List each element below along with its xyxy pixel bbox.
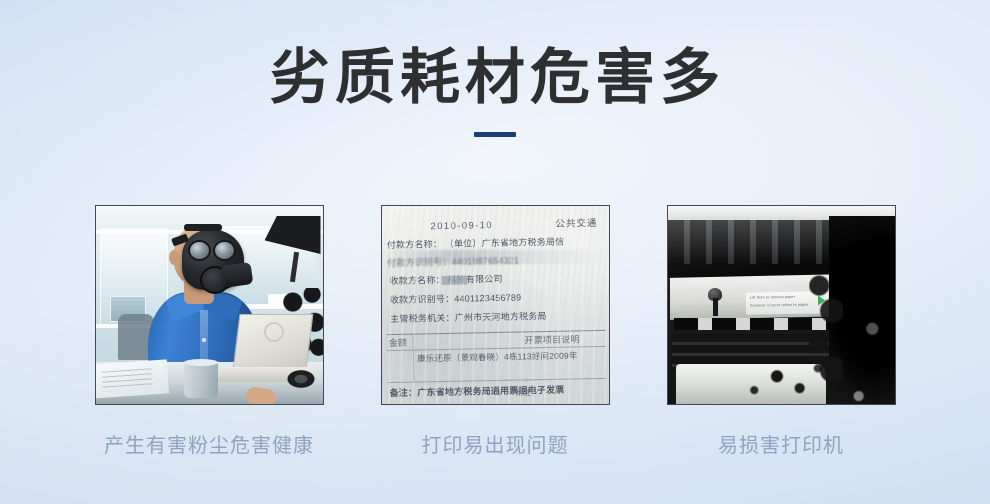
invoice-item-header: 开票项目说明 [524, 334, 579, 346]
card-caption-harmful-dust: 产生有害粉尘危害健康 [104, 433, 314, 459]
gas-mask-lens-right [213, 240, 236, 261]
invoice-payee-id: 收款方识别号：4401123456789 [389, 293, 521, 307]
invoice-footer-sub: 附注 [515, 387, 531, 398]
photo-glare [668, 206, 895, 404]
card-harmful-dust: 产生有害粉尘危害健康 [95, 205, 324, 459]
shirt-button-upper [202, 338, 206, 342]
cards-row: 产生有害粉尘危害健康 2010-09-10 公共交通 付款方名称： （单位）广东… [0, 205, 990, 475]
card-printing-problems: 2010-09-10 公共交通 付款方名称： （单位）广东省地方税务局信 付款方… [381, 205, 610, 459]
photo-office-worker-gas-mask [96, 206, 323, 404]
invoice-column-rule [412, 334, 414, 382]
photo-frame-harmful-dust [95, 205, 324, 405]
photo-frame-printer-damage: Lift here to remove paper Soulever ici p… [667, 205, 896, 405]
gas-mask-strap-top [184, 224, 222, 231]
invoice-ink-smudge [382, 250, 609, 264]
card-caption-printer-damage: 易损害打印机 [718, 433, 844, 459]
invoice-footer-note: 备注：广东省地方税务局通用票据电子发票 [389, 385, 564, 399]
gas-mask-canister [220, 262, 253, 288]
invoice-payer-name: 付款方名称： （单位）广东省地方税务局信 [386, 237, 564, 251]
card-caption-printing-problems: 打印易出现问题 [422, 433, 569, 459]
photo-faded-invoice: 2010-09-10 公共交通 付款方名称： （单位）广东省地方税务局信 付款方… [382, 206, 609, 404]
coffee-mug-rim [184, 359, 218, 366]
photo-printer-toner-spill: Lift here to remove paper Soulever ici p… [668, 206, 895, 404]
title-block: 劣质耗材危害多 [0, 42, 990, 137]
invoice-date: 2010-09-10 [430, 220, 493, 232]
page-title: 劣质耗材危害多 [0, 42, 990, 114]
invoice-tax-authority: 主管税务机关：广州市天河地方税务局 [390, 311, 547, 325]
invoice-document: 2010-09-10 公共交通 付款方名称： （单位）广东省地方税务局信 付款方… [384, 208, 607, 402]
invoice-header-right: 公共交通 [555, 218, 597, 230]
photo-frame-printing-problems: 2010-09-10 公共交通 付款方名称： （单位）广东省地方税务局信 付款方… [381, 205, 610, 405]
title-divider [474, 132, 516, 137]
invoice-rule-bottom [387, 378, 606, 383]
desk-cable-coil [281, 366, 321, 392]
coffee-mug [184, 362, 218, 398]
gas-mask-lens-left [188, 240, 211, 261]
desk-paper-lines [101, 368, 152, 391]
person-ear [169, 250, 179, 265]
invoice-redaction-block [441, 276, 467, 285]
promo-banner: 劣质耗材危害多 [0, 0, 990, 504]
card-printer-damage: Lift here to remove paper Soulever ici p… [667, 205, 896, 459]
invoice-amount-label: 金额 [388, 338, 407, 349]
invoice-item-line: 康乐还原（景观春晓）4栋113好间2009年 [416, 350, 577, 364]
laptop-logo [264, 322, 284, 342]
